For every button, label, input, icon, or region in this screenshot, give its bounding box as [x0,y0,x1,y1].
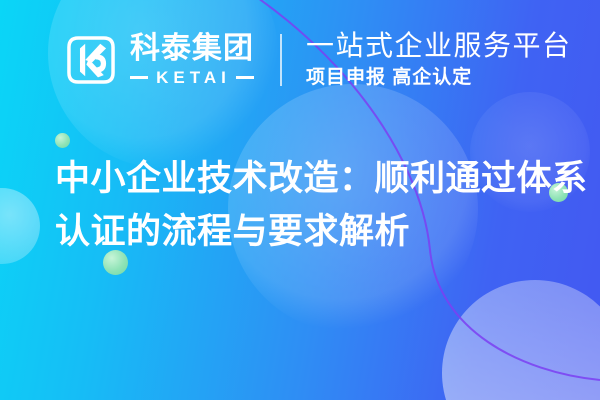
ketai-diamond-monogram-icon [62,31,120,89]
wordmark-rule-right [236,76,254,79]
banner-headline: 中小企业技术改造：顺利通过体系 认证的流程与要求解析 [55,152,585,258]
slogan-block: 一站式企业服务平台 项目申报 高企认定 [306,30,572,89]
banner-header: 科泰集团 KETAI 一站式企业服务平台 项目申报 高企认定 [0,0,600,120]
brand-wordmark: 科泰集团 KETAI [130,34,254,86]
header-divider [280,34,282,86]
headline-line-2: 认证的流程与要求解析 [55,205,585,258]
headline-line-1: 中小企业技术改造：顺利通过体系 [55,152,585,205]
brand-name-en-row: KETAI [130,69,254,86]
brand-name-en: KETAI [148,69,236,86]
brand-name-cn: 科泰集团 [130,34,254,64]
slogan-main: 一站式企业服务平台 [306,30,572,61]
slogan-sub: 项目申报 高企认定 [306,67,572,90]
wordmark-rule-left [130,76,148,79]
promo-banner: 科泰集团 KETAI 一站式企业服务平台 项目申报 高企认定 中小企业技术改造：… [0,0,600,400]
brand-logo: 科泰集团 KETAI [62,31,254,89]
